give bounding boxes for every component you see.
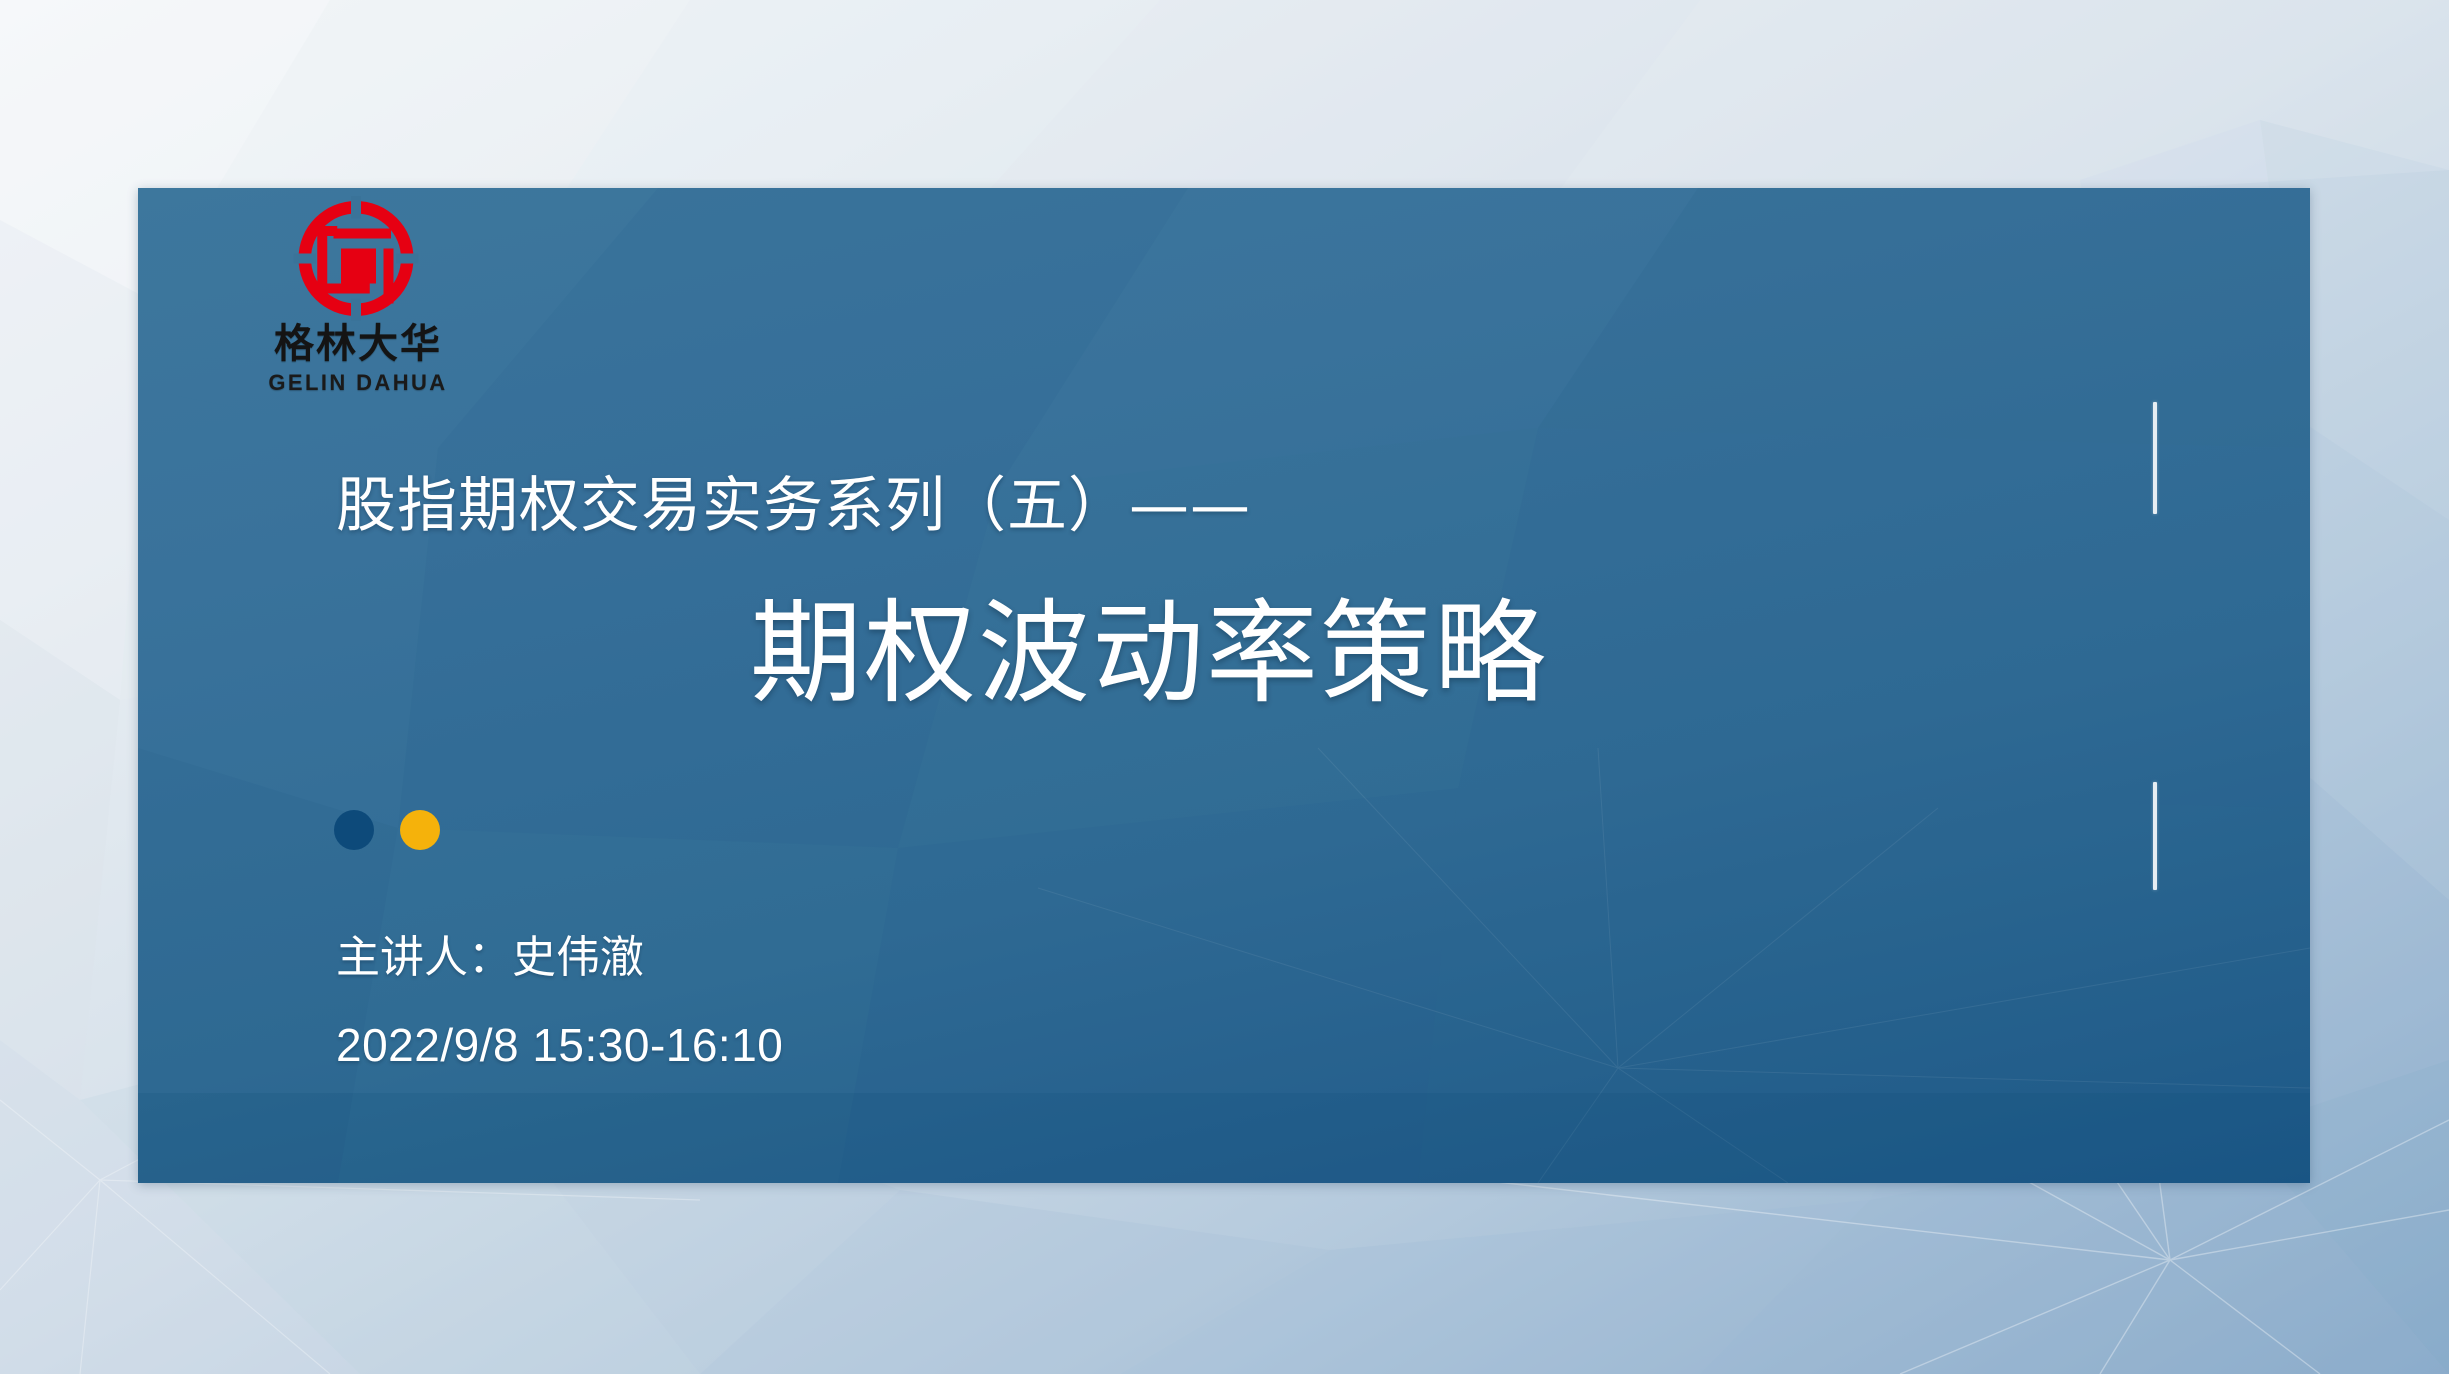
slide-title: 期权波动率策略	[750, 590, 1548, 718]
decorative-dots	[334, 810, 440, 850]
presenter-name: 主讲人：史伟澈	[336, 930, 644, 986]
logo-english-name: GELIN DAHUA	[238, 370, 478, 396]
accent-rule-bottom	[2153, 782, 2157, 890]
accent-rule-top	[2153, 402, 2157, 514]
dot-navy-icon	[334, 810, 374, 850]
title-panel: 格林大华 GELIN DAHUA 股指期权交易实务系列（五）—— 期权波动率策略…	[138, 188, 2310, 1183]
presentation-slide: 格林大华 GELIN DAHUA 股指期权交易实务系列（五）—— 期权波动率策略…	[0, 0, 2449, 1374]
gelin-dahua-seal-icon	[276, 196, 436, 321]
dot-gold-icon	[400, 810, 440, 850]
slide-subtitle: 股指期权交易实务系列（五）——	[336, 470, 1251, 542]
session-datetime: 2022/9/8 15:30-16:10	[336, 1016, 783, 1074]
logo-chinese-name: 格林大华	[238, 322, 478, 366]
company-logo: 格林大华 GELIN DAHUA	[238, 196, 478, 456]
